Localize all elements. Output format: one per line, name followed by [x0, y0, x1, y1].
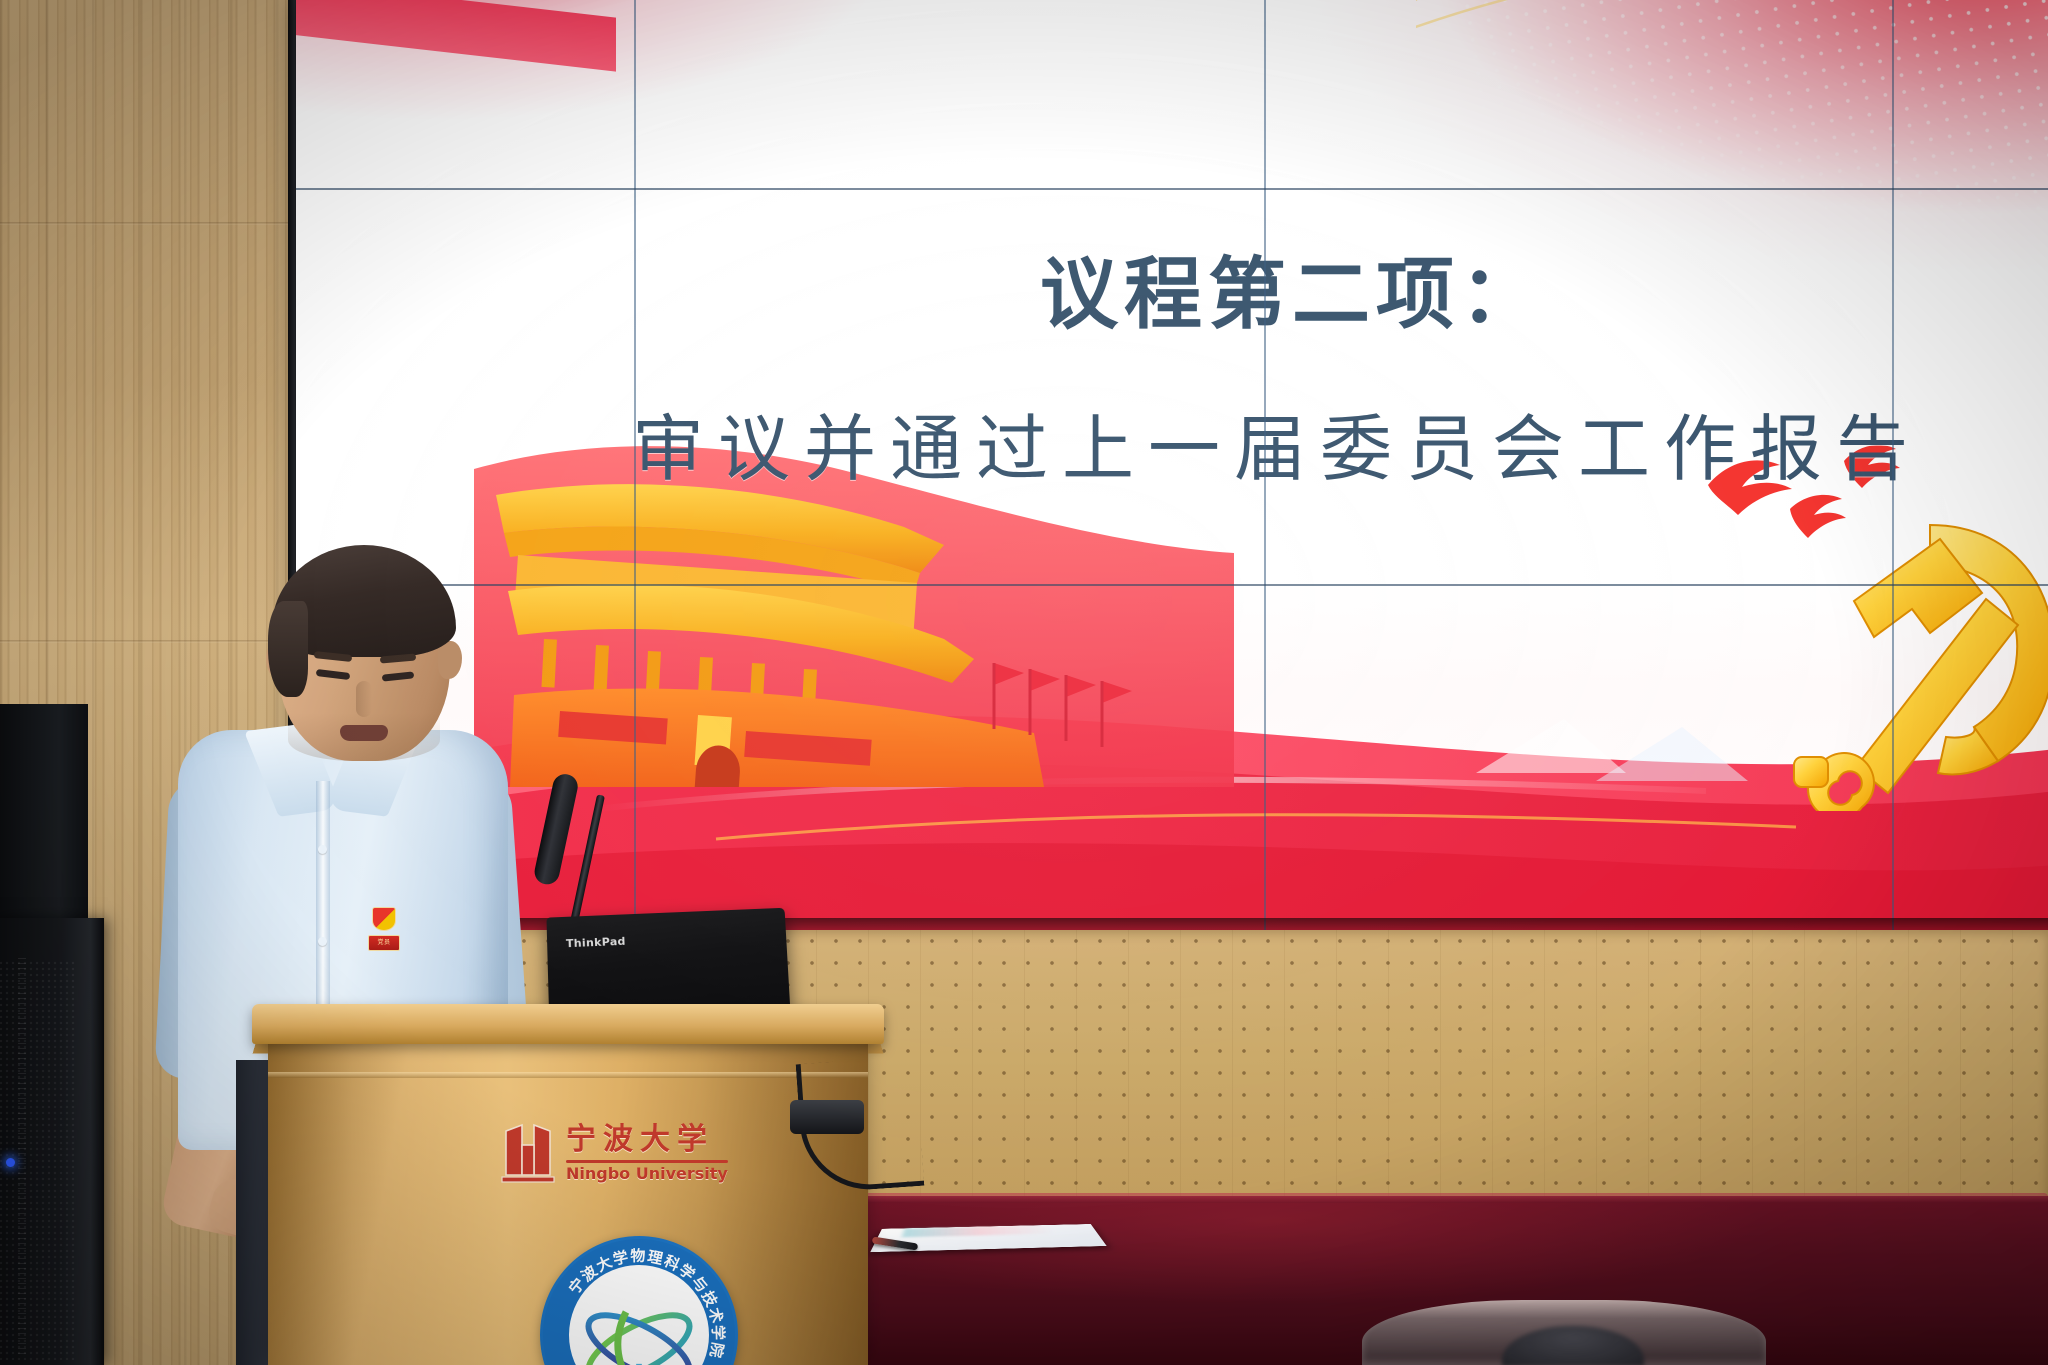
equipment-rack — [0, 704, 88, 924]
university-name-en: Ningbo University — [566, 1166, 728, 1182]
slide-subheading: 审议并通过上一届委员会工作报告 — [632, 390, 1922, 495]
photo-scene: 议程第二项： 审议并通过上一届委员会工作报告 — [0, 0, 2048, 1365]
university-wordmark: 宁波大学 Ningbo University — [566, 1125, 728, 1182]
college-badge-graphic: 宁波大学物理科学与技术学院 Φ — [540, 1236, 738, 1365]
ear-right — [438, 641, 462, 679]
badge-label: 党员 — [369, 936, 399, 949]
badge-name-bar: 党员 — [368, 935, 400, 951]
logo-divider — [566, 1160, 728, 1163]
mouth — [340, 725, 388, 741]
power-led-indicator — [6, 1158, 15, 1167]
university-logo: 宁波大学 Ningbo University — [500, 1118, 760, 1188]
podium-top-ledge — [252, 1004, 884, 1044]
svg-text:Φ: Φ — [626, 1359, 652, 1365]
microphone-base — [790, 1100, 864, 1134]
nose — [356, 681, 372, 717]
party-member-badge: 党员 — [368, 907, 400, 963]
university-name-cn: 宁波大学 — [566, 1125, 728, 1155]
table-edge — [830, 1193, 2048, 1203]
badge-shield-icon — [372, 907, 396, 931]
shirt-button — [318, 845, 327, 854]
podium-lip — [268, 1072, 868, 1078]
laptop-brand-text: ThinkPad — [566, 935, 626, 950]
shirt-button — [318, 937, 327, 946]
college-badge: 宁波大学物理科学与技术学院 Φ — [540, 1236, 738, 1365]
laptop-brand-logo: ThinkPad — [566, 935, 626, 950]
university-mark-icon — [500, 1121, 556, 1185]
hair-sideburn — [268, 601, 308, 697]
speaker-vent-strip — [18, 958, 26, 1356]
slide-heading: 议程第二项： — [1040, 232, 1544, 344]
